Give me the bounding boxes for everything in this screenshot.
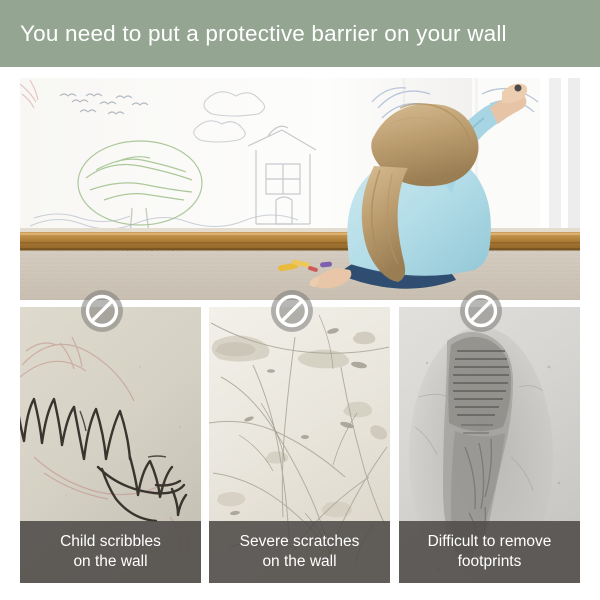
caption-line-2: on the wall [262,552,336,572]
panel-difficult-footprints: Difficult to remove footprints [399,307,580,583]
caption-line-2: footprints [458,552,522,572]
caption-line-1: Severe scratches [240,532,360,552]
hero-image [20,78,580,300]
product-infographic: You need to put a protective barrier on … [0,0,600,600]
page-title: You need to put a protective barrier on … [0,21,507,47]
panel-child-scribbles: Child scribbles on the wall [20,307,201,583]
header-banner: You need to put a protective barrier on … [0,0,600,67]
problem-panel-row: Child scribbles on the wall [20,307,580,583]
hero-illustration [20,78,580,300]
caption-line-1: Child scribbles [60,532,161,552]
caption-line-2: on the wall [73,552,147,572]
caption-line-1: Difficult to remove [428,532,552,552]
panel-caption-2: Severe scratches on the wall [209,521,390,583]
panel-caption-1: Child scribbles on the wall [20,521,201,583]
panel-severe-scratches: Severe scratches on the wall [209,307,390,583]
panel-caption-3: Difficult to remove footprints [399,521,580,583]
